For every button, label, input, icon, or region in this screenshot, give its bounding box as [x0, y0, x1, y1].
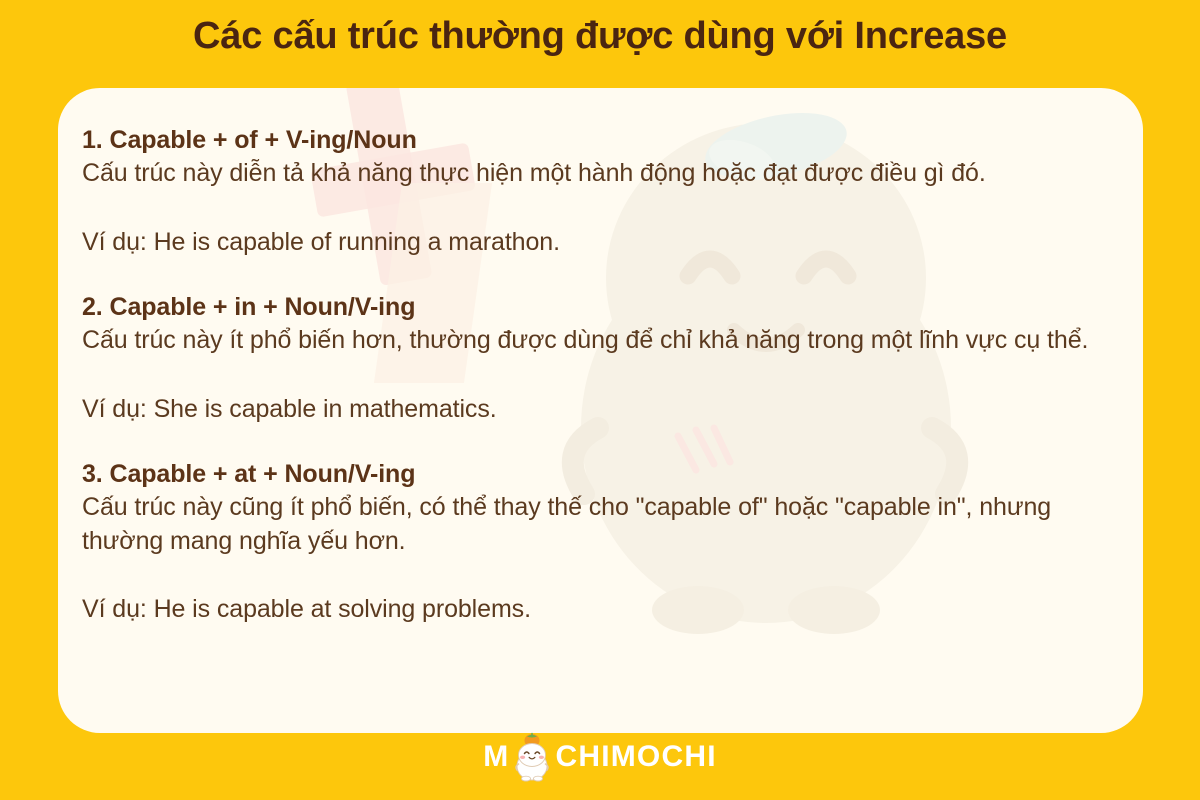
- section-description: Cấu trúc này ít phổ biến hơn, thường đượ…: [82, 324, 1119, 358]
- section-heading: 1. Capable + of + V-ing/Noun: [82, 124, 1119, 157]
- poster: Các cấu trúc thường được dùng với Increa…: [0, 0, 1200, 800]
- card-content: 1. Capable + of + V-ing/Noun Cấu trúc nà…: [82, 124, 1119, 627]
- structure-section-3: 3. Capable + at + Noun/V-ing Cấu trúc nà…: [82, 458, 1119, 627]
- section-description: Cấu trúc này cũng ít phổ biến, có thể th…: [82, 491, 1119, 558]
- brand-text-prefix: M: [483, 742, 509, 772]
- mochi-mascot-icon: [510, 732, 554, 782]
- section-divider-gap: [82, 259, 1119, 291]
- section-example: Ví dụ: He is capable at solving problems…: [82, 593, 1119, 627]
- section-description: Cấu trúc này diễn tả khả năng thực hiện …: [82, 157, 1119, 191]
- section-heading: 2. Capable + in + Noun/V-ing: [82, 291, 1119, 324]
- section-example: Ví dụ: She is capable in mathematics.: [82, 393, 1119, 427]
- structure-section-2: 2. Capable + in + Noun/V-ing Cấu trúc nà…: [82, 291, 1119, 426]
- section-heading: 3. Capable + at + Noun/V-ing: [82, 458, 1119, 491]
- structure-section-1: 1. Capable + of + V-ing/Noun Cấu trúc nà…: [82, 124, 1119, 259]
- page-title: Các cấu trúc thường được dùng với Increa…: [0, 13, 1200, 61]
- section-divider-gap: [82, 426, 1119, 458]
- section-example: Ví dụ: He is capable of running a marath…: [82, 226, 1119, 260]
- brand-logo: M: [0, 732, 1200, 782]
- brand-text-suffix: CHIMOCHI: [555, 742, 716, 772]
- content-card: 1. Capable + of + V-ing/Noun Cấu trúc nà…: [58, 88, 1143, 733]
